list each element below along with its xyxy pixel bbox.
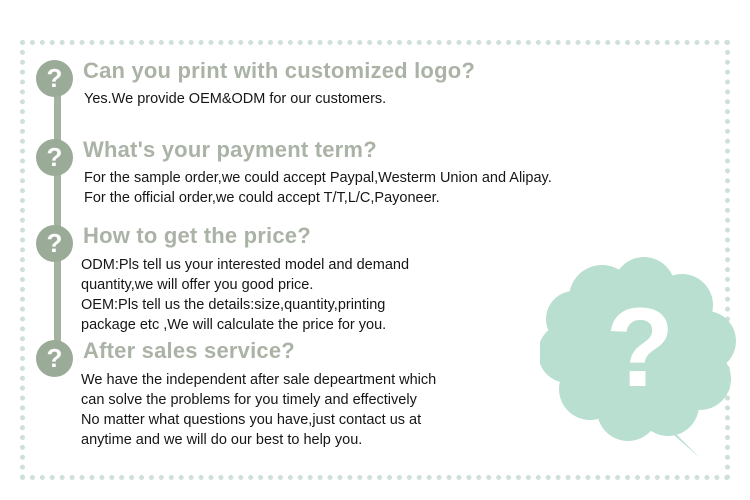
faq-panel: ? ? Can you print with customized logo? … — [0, 0, 750, 500]
faq-answer-line: ODM:Pls tell us your interested model an… — [81, 255, 683, 275]
faq-answer-line: OEM:Pls tell us the details:size,quantit… — [81, 295, 683, 315]
question-mark-badge-icon: ? — [36, 139, 73, 176]
faq-answer-line: can solve the problems for you timely an… — [81, 390, 683, 410]
question-mark-badge-icon: ? — [36, 225, 73, 262]
faq-content: How to get the price? ODM:Pls tell us yo… — [83, 222, 683, 335]
faq-answer: ODM:Pls tell us your interested model an… — [81, 255, 683, 335]
faq-answer-line: anytime and we will do our best to help … — [81, 430, 683, 450]
faq-answer-line: For the sample order,we could accept Pay… — [84, 168, 683, 188]
faq-answer-line: For the official order,we could accept T… — [84, 188, 683, 208]
faq-answer-line: No matter what questions you have,just c… — [81, 410, 683, 430]
faq-content: What's your payment term? For the sample… — [83, 136, 683, 208]
faq-answer-line: quantity,we will offer you good price. — [81, 275, 683, 295]
question-mark-badge-icon: ? — [36, 340, 73, 377]
faq-question: After sales service? — [83, 337, 683, 365]
faq-answer: For the sample order,we could accept Pay… — [84, 168, 683, 208]
faq-question: What's your payment term? — [83, 136, 683, 164]
question-mark-badge-icon: ? — [36, 60, 73, 97]
faq-answer-line: package etc ,We will calculate the price… — [81, 315, 683, 335]
faq-list: ? Can you print with customized logo? Ye… — [0, 0, 750, 500]
faq-answer: We have the independent after sale depea… — [81, 370, 683, 450]
faq-answer: Yes.We provide OEM&ODM for our customers… — [84, 89, 683, 109]
faq-question: Can you print with customized logo? — [83, 57, 683, 85]
faq-content: Can you print with customized logo? Yes.… — [83, 57, 683, 109]
faq-answer-line: Yes.We provide OEM&ODM for our customers… — [84, 89, 683, 109]
faq-content: After sales service? We have the indepen… — [83, 337, 683, 450]
faq-question: How to get the price? — [83, 222, 683, 250]
faq-answer-line: We have the independent after sale depea… — [81, 370, 683, 390]
